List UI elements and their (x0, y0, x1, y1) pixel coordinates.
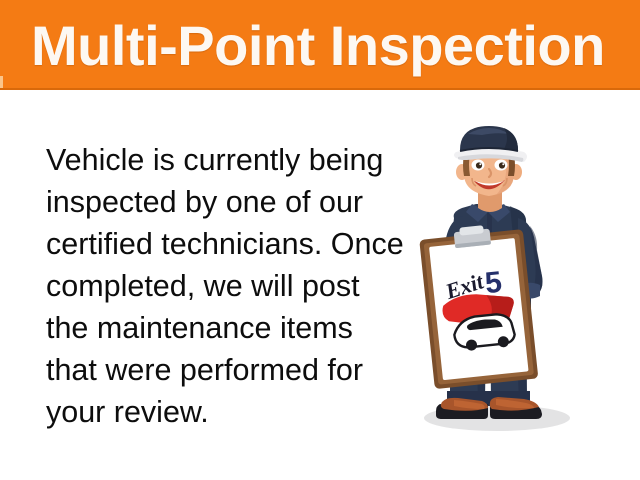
body-line: completed, we will post (46, 265, 401, 307)
right-pupil-glint (502, 163, 504, 165)
left-shoe (436, 398, 488, 419)
body-line: Vehicle is currently being (46, 139, 401, 181)
clipboard: Exit 5 (418, 221, 538, 389)
mechanic-illustration: Exit 5 (392, 126, 602, 431)
body-line: that were performed for (46, 349, 401, 391)
right-shoe (490, 397, 542, 419)
body-line: inspected by one of our (46, 181, 401, 223)
body-line: your review. (46, 391, 401, 433)
left-pupil-glint (479, 163, 481, 165)
page-title: Multi-Point Inspection (31, 6, 631, 86)
header-banner: Multi-Point Inspection (0, 0, 640, 90)
body-line: certified technicians. Once (46, 223, 401, 265)
left-pupil (476, 162, 482, 168)
right-pupil (499, 162, 505, 168)
slide-canvas: Multi-Point Inspection Vehicle is curren… (0, 0, 640, 480)
body-paragraph: Vehicle is currently being inspected by … (46, 139, 401, 433)
banner-bottom-rule (0, 88, 640, 90)
body-line: the maintenance items (46, 307, 401, 349)
logo-five-text: 5 (483, 266, 503, 301)
